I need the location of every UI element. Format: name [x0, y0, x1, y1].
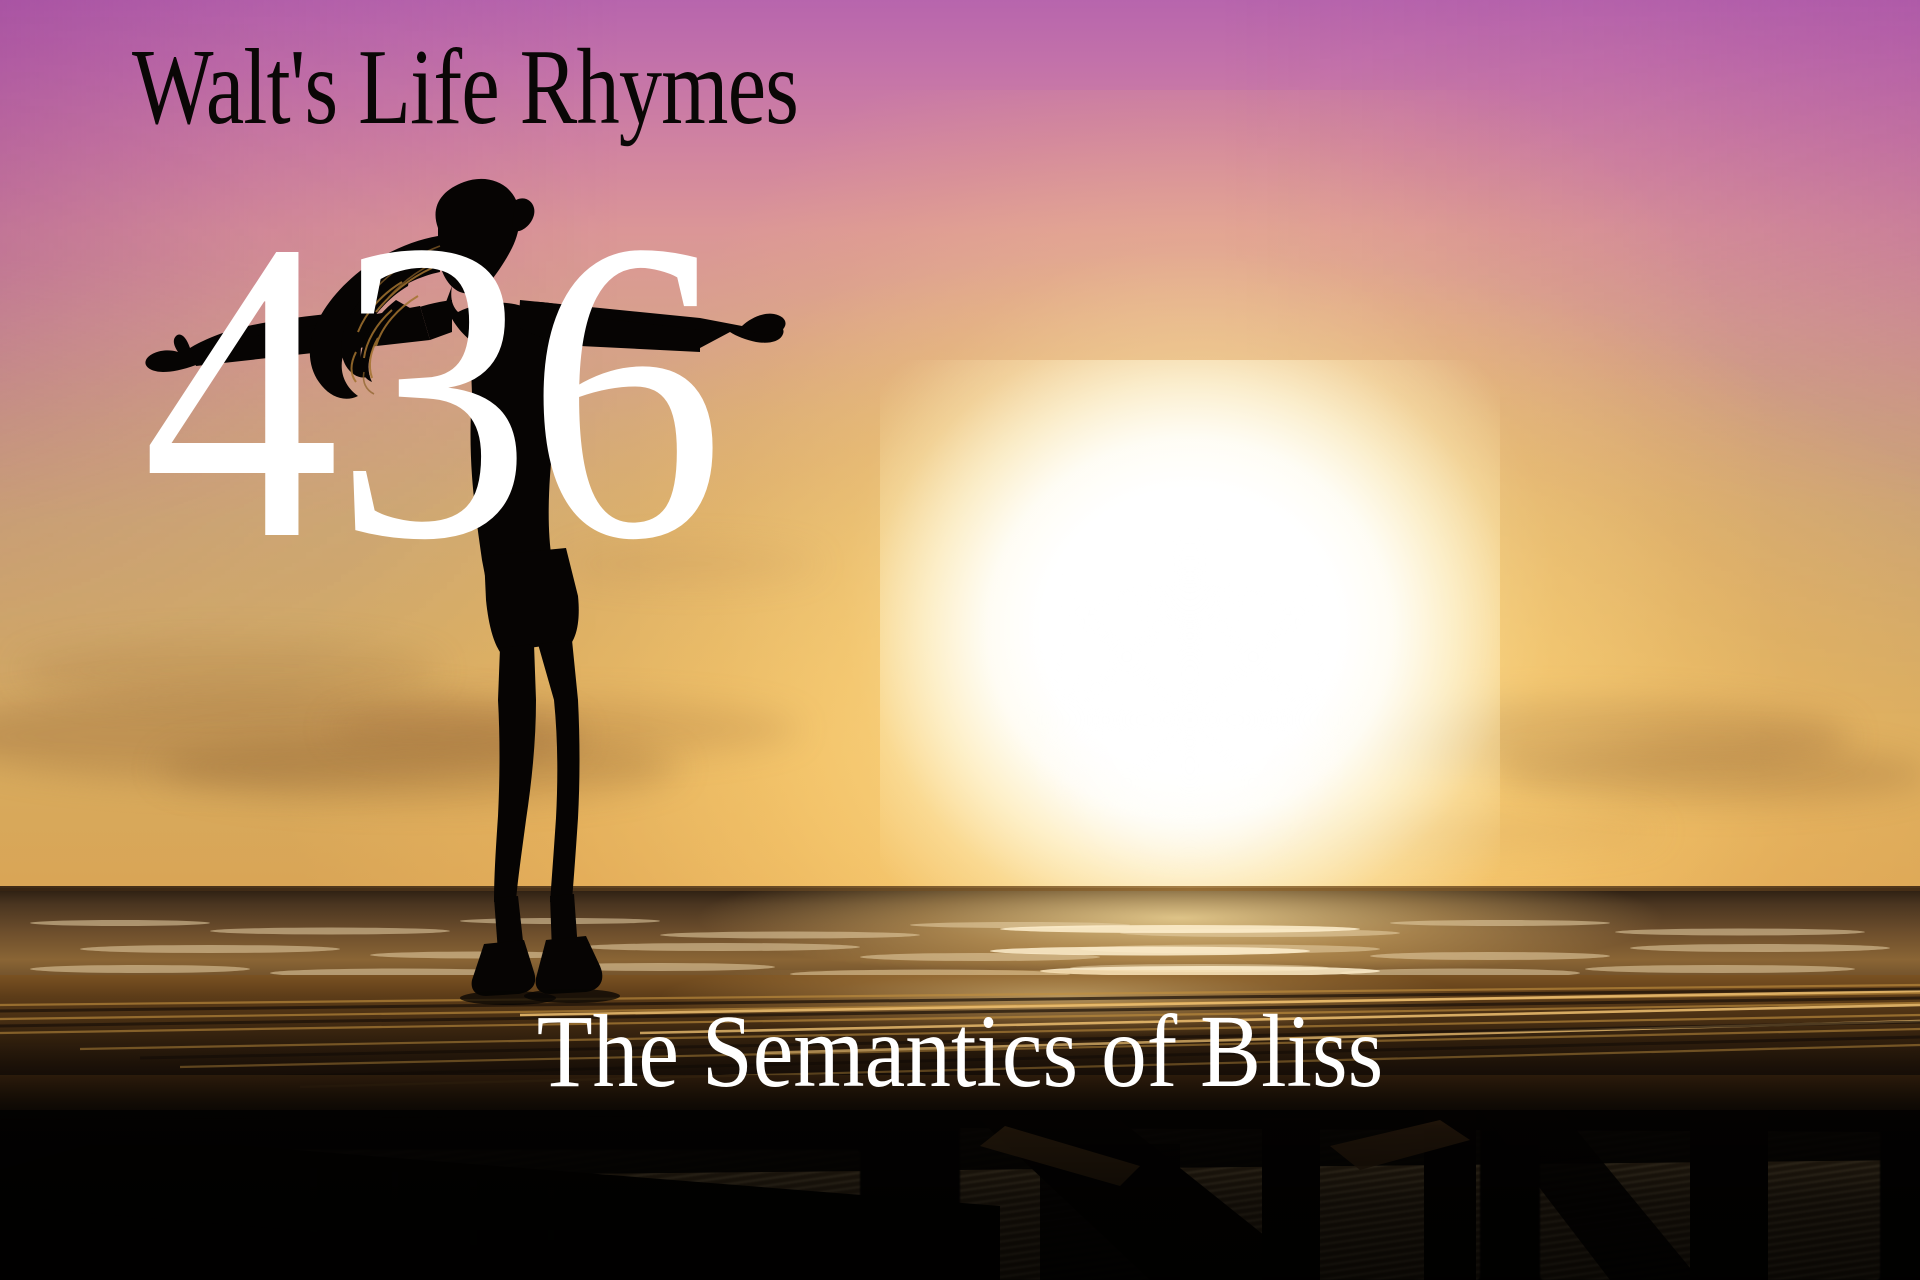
issue-number: 436: [142, 176, 719, 606]
page-title: Walt's Life Rhymes: [132, 34, 798, 142]
poster-canvas: Walt's Life Rhymes 436 The Semantics of …: [0, 0, 1920, 1280]
poem-title: The Semantics of Bliss: [0, 1000, 1920, 1104]
poem-title-text: The Semantics of Bliss: [537, 1000, 1383, 1104]
